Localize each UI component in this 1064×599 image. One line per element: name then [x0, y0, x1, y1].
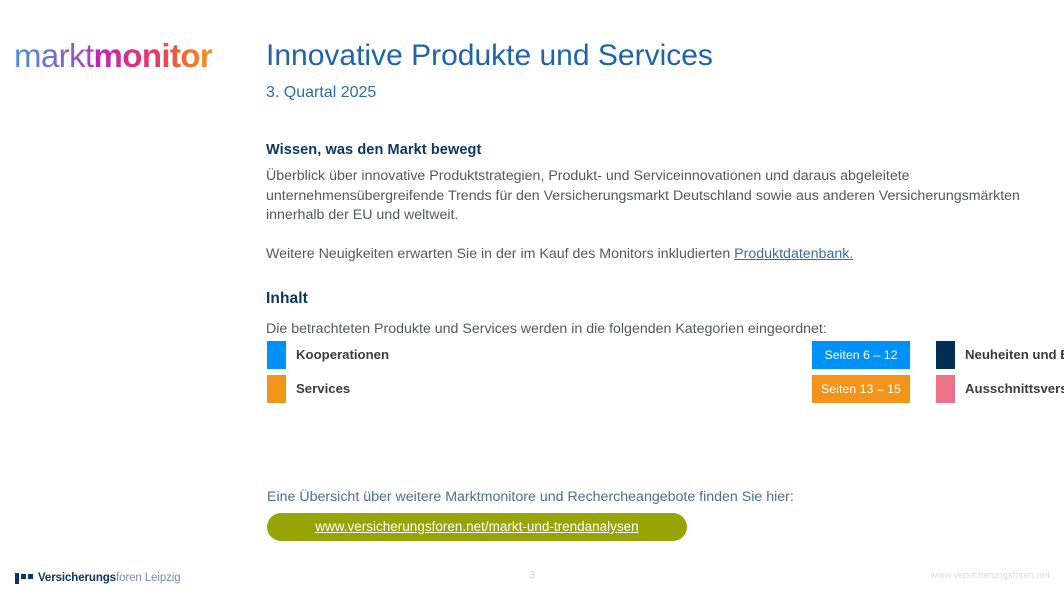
footer-url: www.versicherungsforen.net — [931, 570, 1050, 581]
color-swatch-services — [267, 375, 286, 403]
category-label-neuheiten: Neuheiten und Erweiterungen — [965, 345, 1064, 365]
marktanalysen-link-button[interactable]: www.versicherungsforen.net/markt-und-tre… — [267, 513, 687, 541]
note-prefix-text: Weitere Neuigkeiten erwarten Sie in der … — [266, 246, 734, 262]
produktdatenbank-link[interactable]: Produktdatenbank. — [734, 246, 853, 262]
logo-text-monitor: monitor — [94, 37, 213, 74]
inhalt-intro-paragraph: Die betrachteten Produkte und Services w… — [266, 320, 1028, 340]
page-badge-services: Seiten 13 – 15 — [812, 375, 910, 403]
note-paragraph: Weitere Neuigkeiten erwarten Sie in der … — [266, 245, 1028, 265]
cta-caption: Eine Übersicht über weitere Marktmonitor… — [267, 487, 794, 507]
main-content: Wissen, was den Markt bewegt Überblick ü… — [266, 140, 1046, 340]
page-number: 3 — [0, 570, 1064, 581]
page-footer: Versicherungsforen Leipzig 3 www.versich… — [0, 565, 1064, 599]
category-label-services: Services — [296, 379, 350, 399]
category-table: Kooperationen Seiten 6 – 12 Neuheiten un… — [267, 341, 1037, 409]
page-badge-kooperationen: Seiten 6 – 12 — [812, 341, 910, 369]
color-swatch-neuheiten — [936, 341, 955, 369]
intro-paragraph: Überblick über innovative Produktstrateg… — [266, 167, 1028, 226]
page-title: Innovative Produkte und Services — [266, 36, 713, 76]
inhalt-heading: Inhalt — [266, 289, 1046, 309]
logo-text-markt: markt — [14, 37, 94, 74]
cta-button-label: www.versicherungsforen.net/markt-und-tre… — [315, 519, 638, 534]
page-subtitle: 3. Quartal 2025 — [266, 82, 376, 104]
category-row-1: Kooperationen Seiten 6 – 12 Neuheiten un… — [267, 341, 1037, 375]
category-label-kooperationen: Kooperationen — [296, 345, 389, 365]
color-swatch-kooperationen — [267, 341, 286, 369]
intro-heading: Wissen, was den Markt bewegt — [266, 140, 1046, 160]
page-header: marktmonitor Innovative Produkte und Ser… — [0, 0, 1064, 118]
category-row-2: Services Seiten 13 – 15 Ausschnittsversi… — [267, 375, 1037, 409]
category-label-ausschnittsversicherungen: Ausschnittsversicherungen — [965, 379, 1064, 399]
marktmonitor-logo: marktmonitor — [14, 36, 212, 76]
color-swatch-ausschnittsversicherungen — [936, 375, 955, 403]
